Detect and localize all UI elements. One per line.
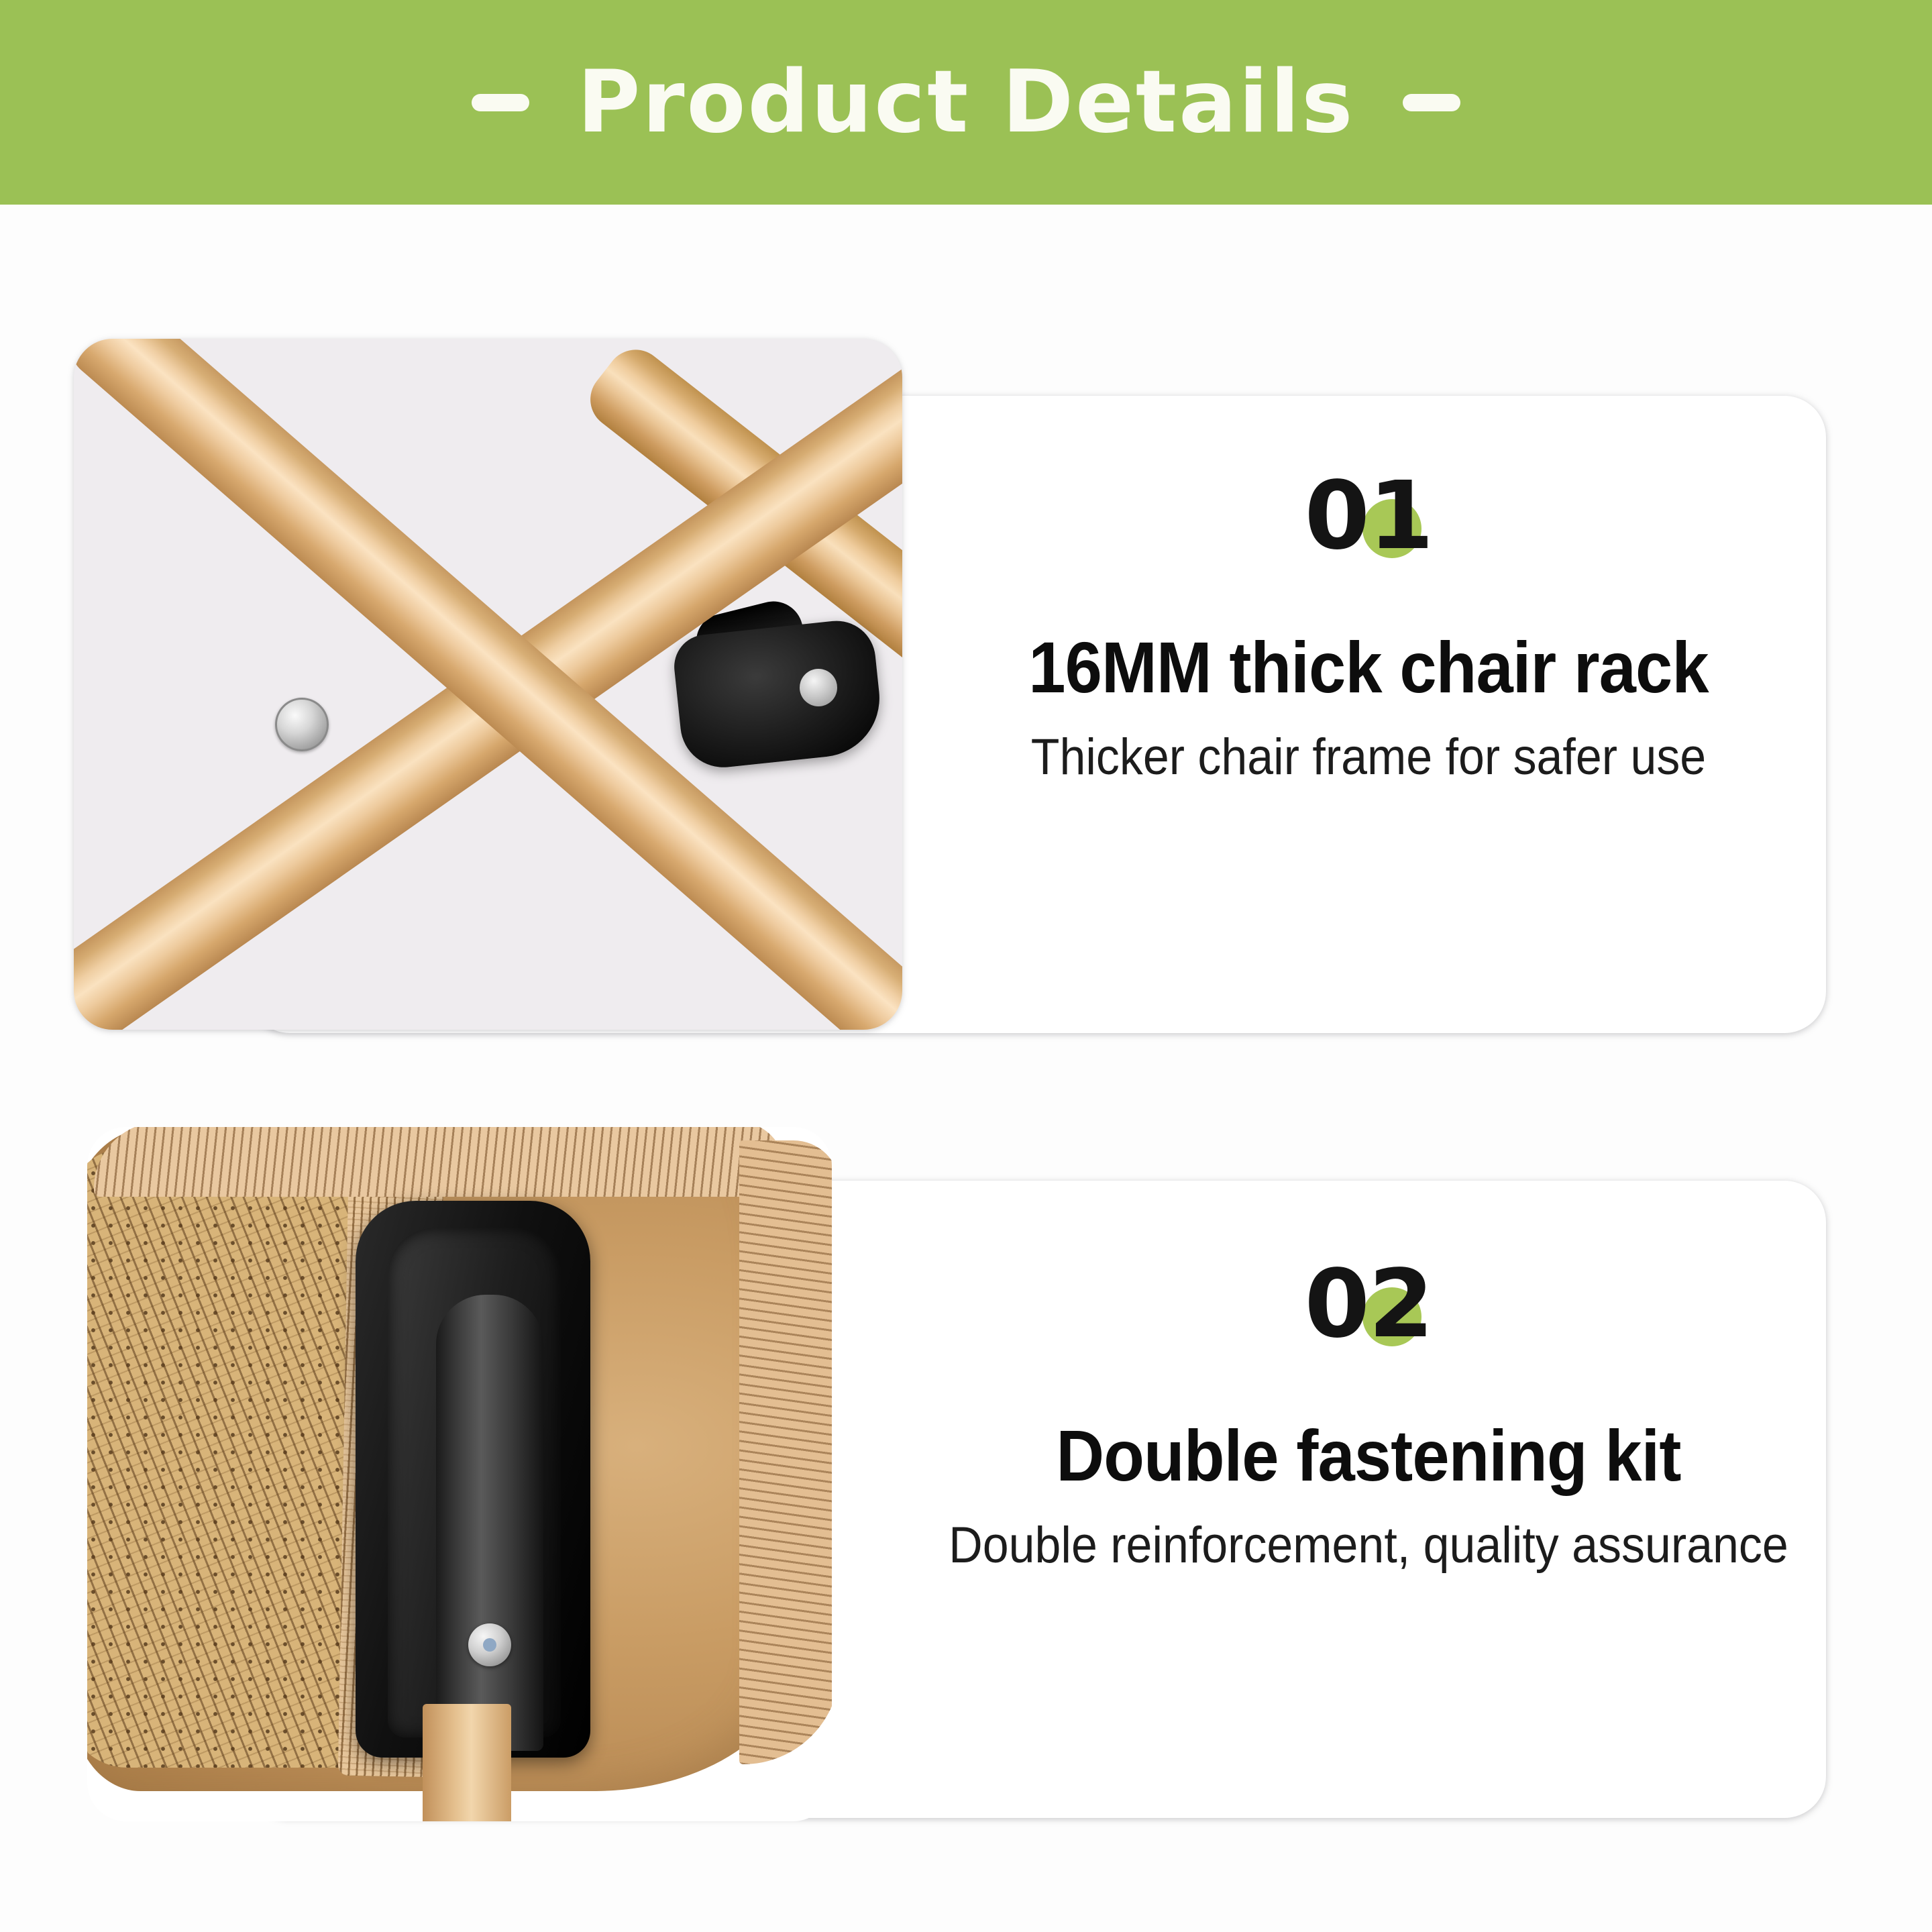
cross-joint-rivet-icon [275, 698, 329, 751]
black-tube [436, 1295, 543, 1751]
feature-subtitle: Thicker chair frame for safer use [940, 728, 1798, 786]
fastening-screw-icon [468, 1623, 511, 1666]
feature-photo-02 [87, 1127, 832, 1821]
bracket-screw-icon [800, 669, 837, 706]
feature-text-02: 02 Double fastening kit Double reinforce… [902, 1258, 1835, 1575]
page-title: Product Details [578, 60, 1355, 146]
feature-title: 16MM thick chair rack [940, 629, 1798, 705]
feature-text-01: 01 16MM thick chair rack Thicker chair f… [902, 470, 1835, 787]
feature-subtitle: Double reinforcement, quality assurance [940, 1516, 1798, 1574]
feature-number: 01 [1305, 470, 1433, 563]
dash-left-icon [472, 94, 529, 111]
feature-photo-01 [74, 339, 902, 1030]
feature-badge-02: 02 [1305, 1258, 1433, 1365]
dash-right-icon [1403, 94, 1460, 111]
feature-number: 02 [1305, 1258, 1433, 1352]
cushion-right-hem [739, 1140, 832, 1764]
black-plastic-bracket [671, 617, 885, 771]
cushion-top-hem [94, 1127, 785, 1197]
feature-badge-01: 01 [1305, 470, 1433, 577]
wood-grain-leg [423, 1704, 511, 1821]
feature-title: Double fastening kit [940, 1417, 1798, 1493]
product-details-banner: Product Details [0, 0, 1932, 205]
cushion-perforated-panel [87, 1147, 382, 1768]
